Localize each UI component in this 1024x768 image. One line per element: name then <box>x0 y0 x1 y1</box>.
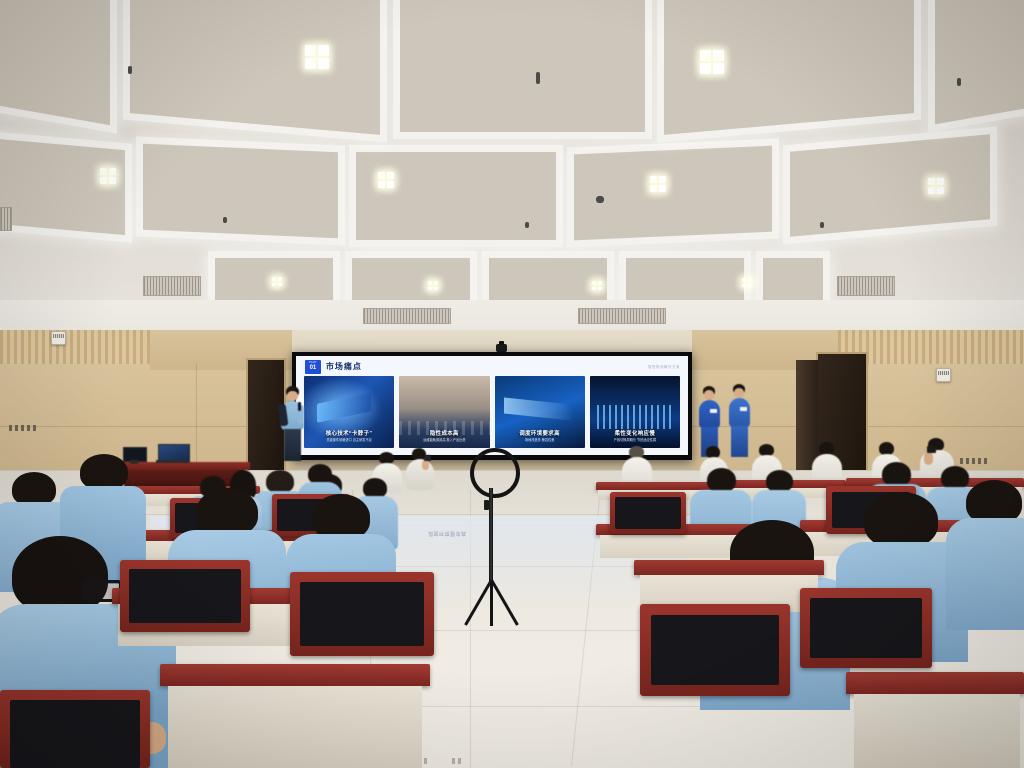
presenter <box>278 386 308 462</box>
ceiling-light-cluster <box>305 45 329 69</box>
ceiling-camera-icon <box>496 344 507 352</box>
wall-marker-left <box>9 425 36 431</box>
wall-marker-right <box>960 458 987 464</box>
air-vent-grille <box>363 308 451 324</box>
ceiling-light-cluster <box>700 50 724 74</box>
sprinkler-head <box>525 222 529 228</box>
reflection-text-right: 调度环境要求高 <box>428 530 467 537</box>
ceiling-light-cluster <box>428 281 438 290</box>
staff-torso <box>729 398 750 427</box>
ceiling-coffer <box>574 146 772 241</box>
presenter-head <box>287 391 298 401</box>
badge-small-label: PART <box>309 362 317 365</box>
air-vent-grille <box>578 308 666 324</box>
wall-slat-panel-left <box>0 330 150 364</box>
ceiling-coffer <box>935 0 1024 124</box>
ceiling-light-cluster <box>650 176 666 192</box>
ceiling-light-cluster <box>100 168 116 184</box>
ceiling-light-cluster <box>742 278 752 287</box>
ceiling-coffer <box>0 0 110 125</box>
ring-light-icon <box>470 448 520 498</box>
presenter-legs <box>284 429 301 461</box>
ceiling-coffer <box>400 0 645 132</box>
conference-hall-photo: PART 01 市场痛点 智慧物流解决方案 核心技术“卡脖子” 关键部件依赖进口… <box>0 0 1024 768</box>
card-title: 隐性成本高 <box>399 429 489 437</box>
ceiling-vent <box>837 276 895 296</box>
slide-card: 柔性变化响应慢 产线切换周期长 节拍适应性弱 <box>590 376 680 448</box>
wall-speaker-left <box>51 331 66 345</box>
chair-back <box>0 690 150 768</box>
card-caption: 调度环境要求高 场地改造多 兼容性差 <box>495 429 585 442</box>
slide-card-row: 核心技术“卡脖子” 关键部件依赖进口 自主研发不足 隐性成本高 运维能耗费用高 … <box>304 376 680 448</box>
chair-back <box>800 588 932 668</box>
ceiling-coffer <box>130 0 380 135</box>
coffered-ceiling <box>0 0 1024 330</box>
phone-clip <box>484 500 489 510</box>
wall-above-screen <box>292 330 692 354</box>
sprinkler-head <box>536 72 540 84</box>
badge-number: 01 <box>309 365 317 371</box>
standing-staff-member <box>727 384 753 458</box>
desk-row-foreground <box>160 664 430 768</box>
card-subtitle: 场地改造多 兼容性差 <box>495 438 585 442</box>
audience-member <box>406 448 434 490</box>
ceiling-coffer <box>143 144 338 239</box>
ceiling-light-cluster <box>592 281 602 290</box>
slide-card: 隐性成本高 运维能耗费用高 投入产出比低 <box>399 376 489 448</box>
card-title: 柔性变化响应慢 <box>590 429 680 437</box>
chair-back <box>290 572 434 656</box>
card-caption: 柔性变化响应慢 产线切换周期长 节拍适应性弱 <box>590 429 680 442</box>
slide-watermark: 智慧物流解决方案 <box>648 364 680 369</box>
name-badge <box>710 409 717 413</box>
ceiling-coffer <box>626 258 744 300</box>
tripod-pole <box>489 488 493 583</box>
card-title: 调度环境要求高 <box>495 429 585 437</box>
ceiling-light-cluster <box>378 172 394 188</box>
ceiling-coffer <box>489 258 607 300</box>
floor-marker <box>452 758 461 764</box>
slide-part-badge: PART 01 <box>305 360 321 374</box>
card-subtitle: 产线切换周期长 节拍适应性弱 <box>590 438 680 442</box>
ring-light-on-tripod[interactable] <box>470 448 514 628</box>
ceiling-coffer <box>352 258 470 300</box>
tripod-leg <box>490 580 493 626</box>
wall-speaker-right <box>936 368 951 382</box>
smartphone-icon <box>424 455 431 461</box>
slide-card: 调度环境要求高 场地改造多 兼容性差 <box>495 376 585 448</box>
chair-back <box>640 604 790 696</box>
smartphone-icon <box>927 446 936 453</box>
card-subtitle: 关键部件依赖进口 自主研发不足 <box>304 438 394 442</box>
card-caption: 隐性成本高 运维能耗费用高 投入产出比低 <box>399 429 489 442</box>
ceiling-coffer <box>0 134 125 235</box>
ceiling-vent <box>0 207 12 231</box>
name-badge <box>740 407 747 411</box>
slide-canvas: PART 01 市场痛点 智慧物流解决方案 核心技术“卡脖子” 关键部件依赖进口… <box>296 356 688 455</box>
staff-legs <box>731 426 748 457</box>
audience-member <box>946 480 1024 630</box>
microphone-icon <box>298 402 301 411</box>
led-presentation-screen[interactable]: PART 01 市场痛点 智慧物流解决方案 核心技术“卡脖子” 关键部件依赖进口… <box>292 352 692 460</box>
sprinkler-head <box>223 217 227 223</box>
staff-head <box>704 390 714 400</box>
card-caption: 核心技术“卡脖子” 关键部件依赖进口 自主研发不足 <box>304 429 394 442</box>
ceiling-coffer <box>763 258 823 300</box>
card-subtitle: 运维能耗费用高 投入产出比低 <box>399 438 489 442</box>
sprinkler-head <box>957 78 961 86</box>
staff-head <box>734 388 744 398</box>
smoke-detector <box>596 196 604 203</box>
presentation-laptop[interactable] <box>156 444 190 464</box>
slide-header: PART 01 市场痛点 <box>305 360 362 374</box>
ceiling-light-cluster <box>272 277 282 286</box>
staff-torso <box>699 400 720 428</box>
sprinkler-head <box>128 66 132 74</box>
sprinkler-head <box>820 222 824 228</box>
card-title: 核心技术“卡脖子” <box>304 429 394 437</box>
chair-back <box>120 560 250 632</box>
desk-row-foreground <box>846 672 1024 768</box>
ceiling-vent <box>143 276 201 296</box>
slide-title: 市场痛点 <box>326 361 362 372</box>
chair-back <box>610 492 686 534</box>
ceiling-light-cluster <box>928 178 944 194</box>
slide-card: 核心技术“卡脖子” 关键部件依赖进口 自主研发不足 <box>304 376 394 448</box>
